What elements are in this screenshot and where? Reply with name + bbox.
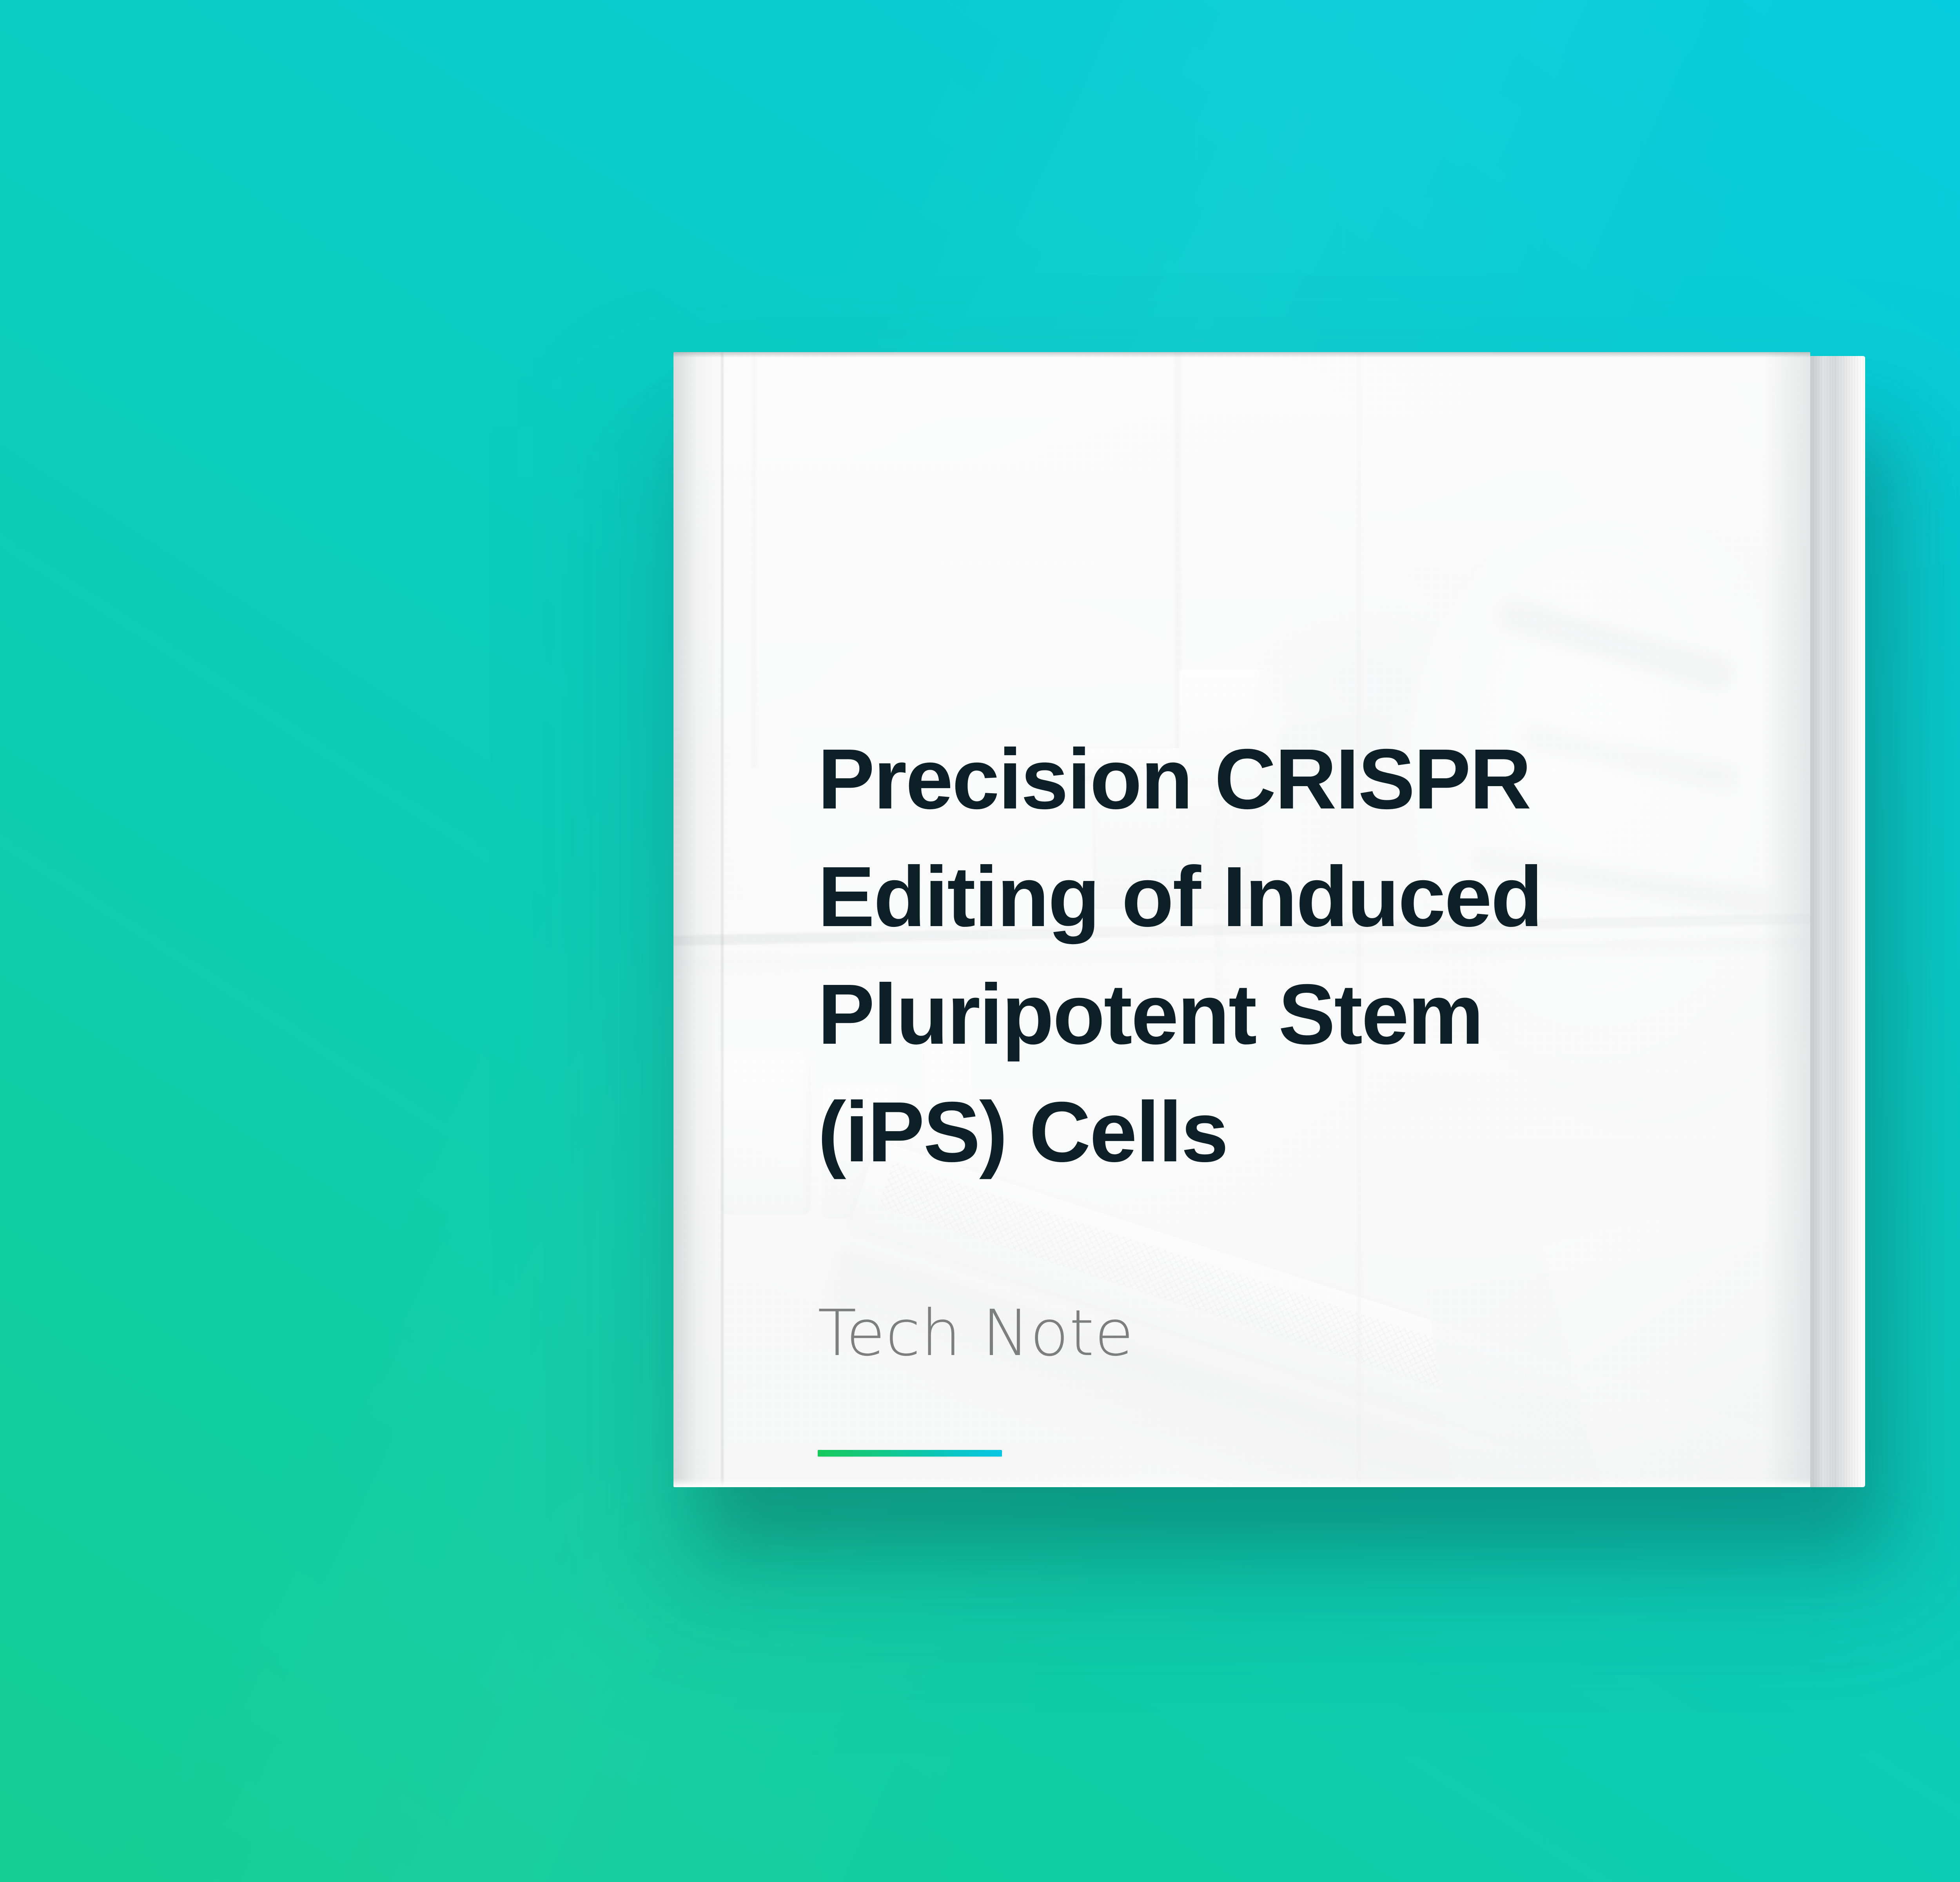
cover-title-line-3: Pluripotent Stem bbox=[818, 967, 1483, 1062]
cover-right-edge-shading bbox=[1763, 352, 1810, 1487]
cover-spine-gutter bbox=[673, 352, 724, 1487]
screenshot-canvas: Precision CRISPR Editing of Induced Plur… bbox=[0, 0, 1960, 1882]
book-front-cover[interactable]: Precision CRISPR Editing of Induced Plur… bbox=[673, 352, 1810, 1487]
cover-text-block: Precision CRISPR Editing of Induced Plur… bbox=[818, 721, 1680, 1487]
cover-title: Precision CRISPR Editing of Induced Plur… bbox=[818, 721, 1680, 1191]
cover-title-line-1: Precision CRISPR bbox=[818, 732, 1530, 827]
cover-subtitle: Tech Note bbox=[818, 1300, 1680, 1367]
cover-accent-divider bbox=[818, 1450, 1002, 1457]
cover-top-edge bbox=[673, 352, 1810, 358]
cover-title-line-2: Editing of Induced bbox=[818, 849, 1542, 945]
cover-title-line-4: (iPS) Cells bbox=[818, 1085, 1227, 1180]
book-page-block bbox=[1802, 356, 1865, 1487]
book-mockup[interactable]: Precision CRISPR Editing of Induced Plur… bbox=[673, 352, 1865, 1493]
cover-spine-crease bbox=[721, 352, 723, 1487]
